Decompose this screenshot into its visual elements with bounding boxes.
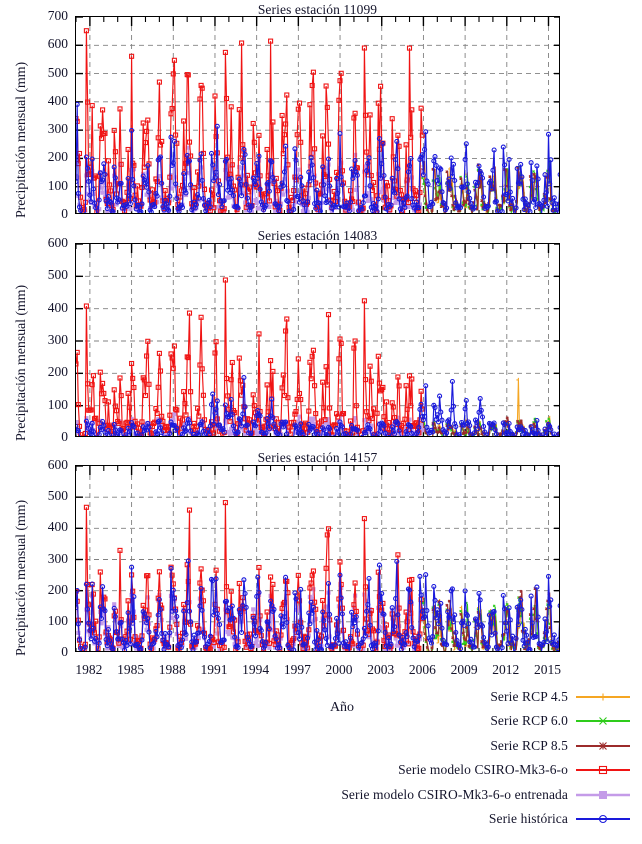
x-axis-tick: 1991 [200, 662, 227, 678]
y-axis-label: Precipitación mensual (mm) [14, 285, 30, 441]
legend-item[interactable]: Serie histórica [0, 809, 632, 830]
y-axis-tick: 0 [61, 429, 68, 445]
legend-item-swatch-plus-icon [574, 689, 632, 705]
legend-item-swatch-star-icon [574, 738, 632, 754]
legend-item-label: Serie modelo CSIRO-Mk3-6-o [398, 762, 574, 778]
y-axis-tick: 300 [48, 551, 68, 567]
y-axis-tick: 0 [61, 206, 68, 222]
y-axis-tick-labels: 0100200300400500600 [26, 243, 68, 437]
y-axis-tick: 700 [48, 8, 68, 24]
legend-item-label: Serie histórica [489, 811, 574, 827]
y-axis-tick: 500 [48, 267, 68, 283]
legend-item[interactable]: Serie RCP 8.5 [0, 735, 632, 756]
y-axis-label: Precipitación mensual (mm) [14, 500, 30, 656]
precipitation-series-figure: Series estación 110990100200300400500600… [0, 0, 642, 844]
y-axis-tick: 600 [48, 36, 68, 52]
y-axis-label: Precipitación mensual (mm) [14, 62, 30, 218]
legend-item-label: Serie modelo CSIRO-Mk3-6-o entrenada [341, 787, 574, 803]
legend-item[interactable]: Serie modelo CSIRO-Mk3-6-o entrenada [0, 784, 632, 805]
y-axis-tick: 300 [48, 121, 68, 137]
y-axis-tick: 400 [48, 519, 68, 535]
legend-item-swatch-filled-square-icon [574, 787, 632, 803]
x-axis-tick: 1994 [242, 662, 269, 678]
y-axis-tick: 400 [48, 300, 68, 316]
legend-item-label: Serie RCP 8.5 [490, 738, 574, 754]
y-axis-tick: 100 [48, 397, 68, 413]
x-axis-tick: 1982 [75, 662, 102, 678]
y-axis-tick: 600 [48, 457, 68, 473]
y-axis-tick: 100 [48, 178, 68, 194]
panel-title: Series estación 14157 [75, 450, 560, 466]
y-axis-tick-labels: 0100200300400500600 [26, 465, 68, 652]
x-axis-tick: 2003 [367, 662, 394, 678]
legend-item[interactable]: Serie modelo CSIRO-Mk3-6-o [0, 760, 632, 781]
x-axis-tick: 2000 [326, 662, 353, 678]
x-axis-tick: 1997 [284, 662, 311, 678]
legend-item-label: Serie RCP 6.0 [490, 713, 574, 729]
x-axis-tick: 2012 [492, 662, 519, 678]
legend-item-label: Serie RCP 4.5 [490, 689, 574, 705]
y-axis-tick: 500 [48, 65, 68, 81]
panel-title: Series estación 14083 [75, 228, 560, 244]
legend-item-swatch-open-circle-icon [574, 811, 632, 827]
x-axis-tick: 2015 [534, 662, 561, 678]
legend-item[interactable]: Serie RCP 4.5 [0, 686, 632, 707]
y-axis-tick: 0 [61, 644, 68, 660]
legend-item-swatch-open-square-icon [574, 762, 632, 778]
y-axis-tick: 200 [48, 364, 68, 380]
plot-area [75, 465, 560, 652]
y-axis-tick: 300 [48, 332, 68, 348]
y-axis-tick: 200 [48, 582, 68, 598]
y-axis-tick-labels: 0100200300400500600700 [26, 16, 68, 214]
x-axis-tick: 2009 [451, 662, 478, 678]
y-axis-tick: 100 [48, 613, 68, 629]
y-axis-tick: 600 [48, 235, 68, 251]
legend-item-swatch-cross-icon [574, 713, 632, 729]
x-axis-tick: 1988 [159, 662, 186, 678]
x-axis-tick: 2006 [409, 662, 436, 678]
legend-item[interactable]: Serie RCP 6.0 [0, 711, 632, 732]
plot-area [75, 16, 560, 214]
y-axis-tick: 500 [48, 488, 68, 504]
x-axis-tick: 1985 [117, 662, 144, 678]
y-axis-tick: 400 [48, 93, 68, 109]
plot-area [75, 243, 560, 437]
y-axis-tick: 200 [48, 149, 68, 165]
